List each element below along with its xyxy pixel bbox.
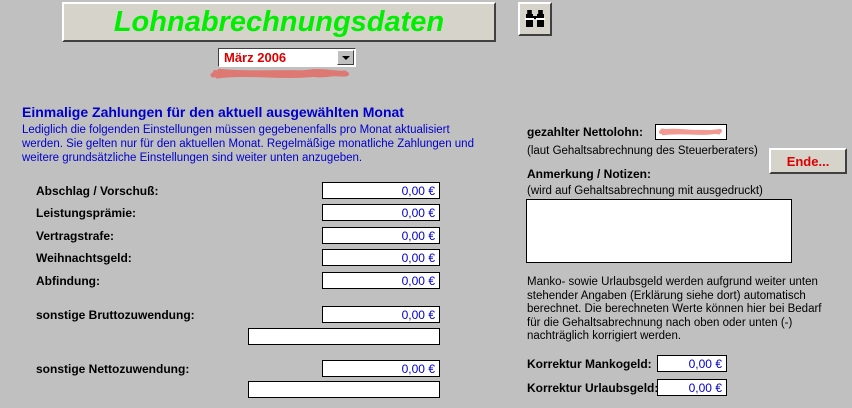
input-wofuer-brutto[interactable] xyxy=(248,328,440,345)
section-heading: Einmalige Zahlungen für den aktuell ausg… xyxy=(22,104,404,120)
input-value: 0,00 € xyxy=(402,206,439,220)
input-value: 0,00 € xyxy=(402,251,439,265)
page-title: Lohnabrechnungsdaten xyxy=(114,8,444,37)
label-leistungspraemie: Leistungsprämie: xyxy=(36,206,136,220)
redaction-scribble-nettolohn xyxy=(656,125,726,139)
input-sonstige-nettozuwendung[interactable]: 0,00 € xyxy=(322,360,440,377)
input-korrektur-urlaubsgeld[interactable]: 0,00 € xyxy=(657,379,727,396)
label-korrektur-urlaubsgeld: Korrektur Urlaubsgeld: xyxy=(527,381,658,395)
label-abschlag-vorschuss: Abschlag / Vorschuß: xyxy=(36,184,158,198)
note-nettolohn-source: (laut Gehaltsabrechnung des Steuerberate… xyxy=(527,145,758,157)
input-value: 0,00 € xyxy=(689,381,726,395)
input-korrektur-mankogeld[interactable]: 0,00 € xyxy=(657,355,727,372)
binoculars-icon xyxy=(524,9,546,29)
month-dropdown[interactable]: März 2006 xyxy=(218,48,356,67)
input-abschlag-vorschuss[interactable]: 0,00 € xyxy=(322,182,440,199)
label-vertragstrafe: Vertragstrafe: xyxy=(36,229,114,243)
search-button[interactable] xyxy=(518,2,552,36)
label-korrektur-mankogeld: Korrektur Mankogeld: xyxy=(527,357,652,371)
label-anmerkung-notizen: Anmerkung / Notizen: xyxy=(527,167,651,181)
input-value: 0,00 € xyxy=(402,274,439,288)
input-wofuer-netto[interactable] xyxy=(248,381,440,398)
input-gezahlter-nettolohn[interactable] xyxy=(655,124,727,140)
textarea-anmerkung-notizen[interactable] xyxy=(526,199,792,263)
input-value: 0,00 € xyxy=(402,308,439,322)
input-value: 0,00 € xyxy=(689,357,726,371)
input-sonstige-bruttozuwendung[interactable]: 0,00 € xyxy=(322,306,440,323)
chevron-down-icon[interactable] xyxy=(337,50,354,65)
input-leistungspraemie[interactable]: 0,00 € xyxy=(322,204,440,221)
input-value: 0,00 € xyxy=(402,229,439,243)
label-gezahlter-nettolohn: gezahlter Nettolohn: xyxy=(527,125,643,139)
end-button-label: Ende... xyxy=(787,154,830,169)
note-anmerkung-print: (wird auf Gehaltsabrechnung mit ausgedru… xyxy=(527,185,763,197)
info-text-manko-urlaubsgeld: Manko- sowie Urlaubsgeld werden aufgrund… xyxy=(527,276,827,344)
end-button[interactable]: Ende... xyxy=(769,148,847,174)
input-abfindung[interactable]: 0,00 € xyxy=(322,272,440,289)
label-weihnachtsgeld: Weihnachtsgeld: xyxy=(36,251,132,265)
label-abfindung: Abfindung: xyxy=(36,274,100,288)
input-value: 0,00 € xyxy=(402,184,439,198)
month-dropdown-value: März 2006 xyxy=(219,50,337,65)
label-sonstige-bruttozuwendung: sonstige Bruttozuwendung: xyxy=(36,308,195,322)
input-vertragstrafe[interactable]: 0,00 € xyxy=(322,227,440,244)
input-weihnachtsgeld[interactable]: 0,00 € xyxy=(322,249,440,266)
input-value: 0,00 € xyxy=(402,362,439,376)
section-description: Lediglich die folgenden Einstellungen mü… xyxy=(22,123,492,165)
label-sonstige-nettozuwendung: sonstige Nettozuwendung: xyxy=(36,362,189,376)
title-panel: Lohnabrechnungsdaten xyxy=(62,2,496,42)
